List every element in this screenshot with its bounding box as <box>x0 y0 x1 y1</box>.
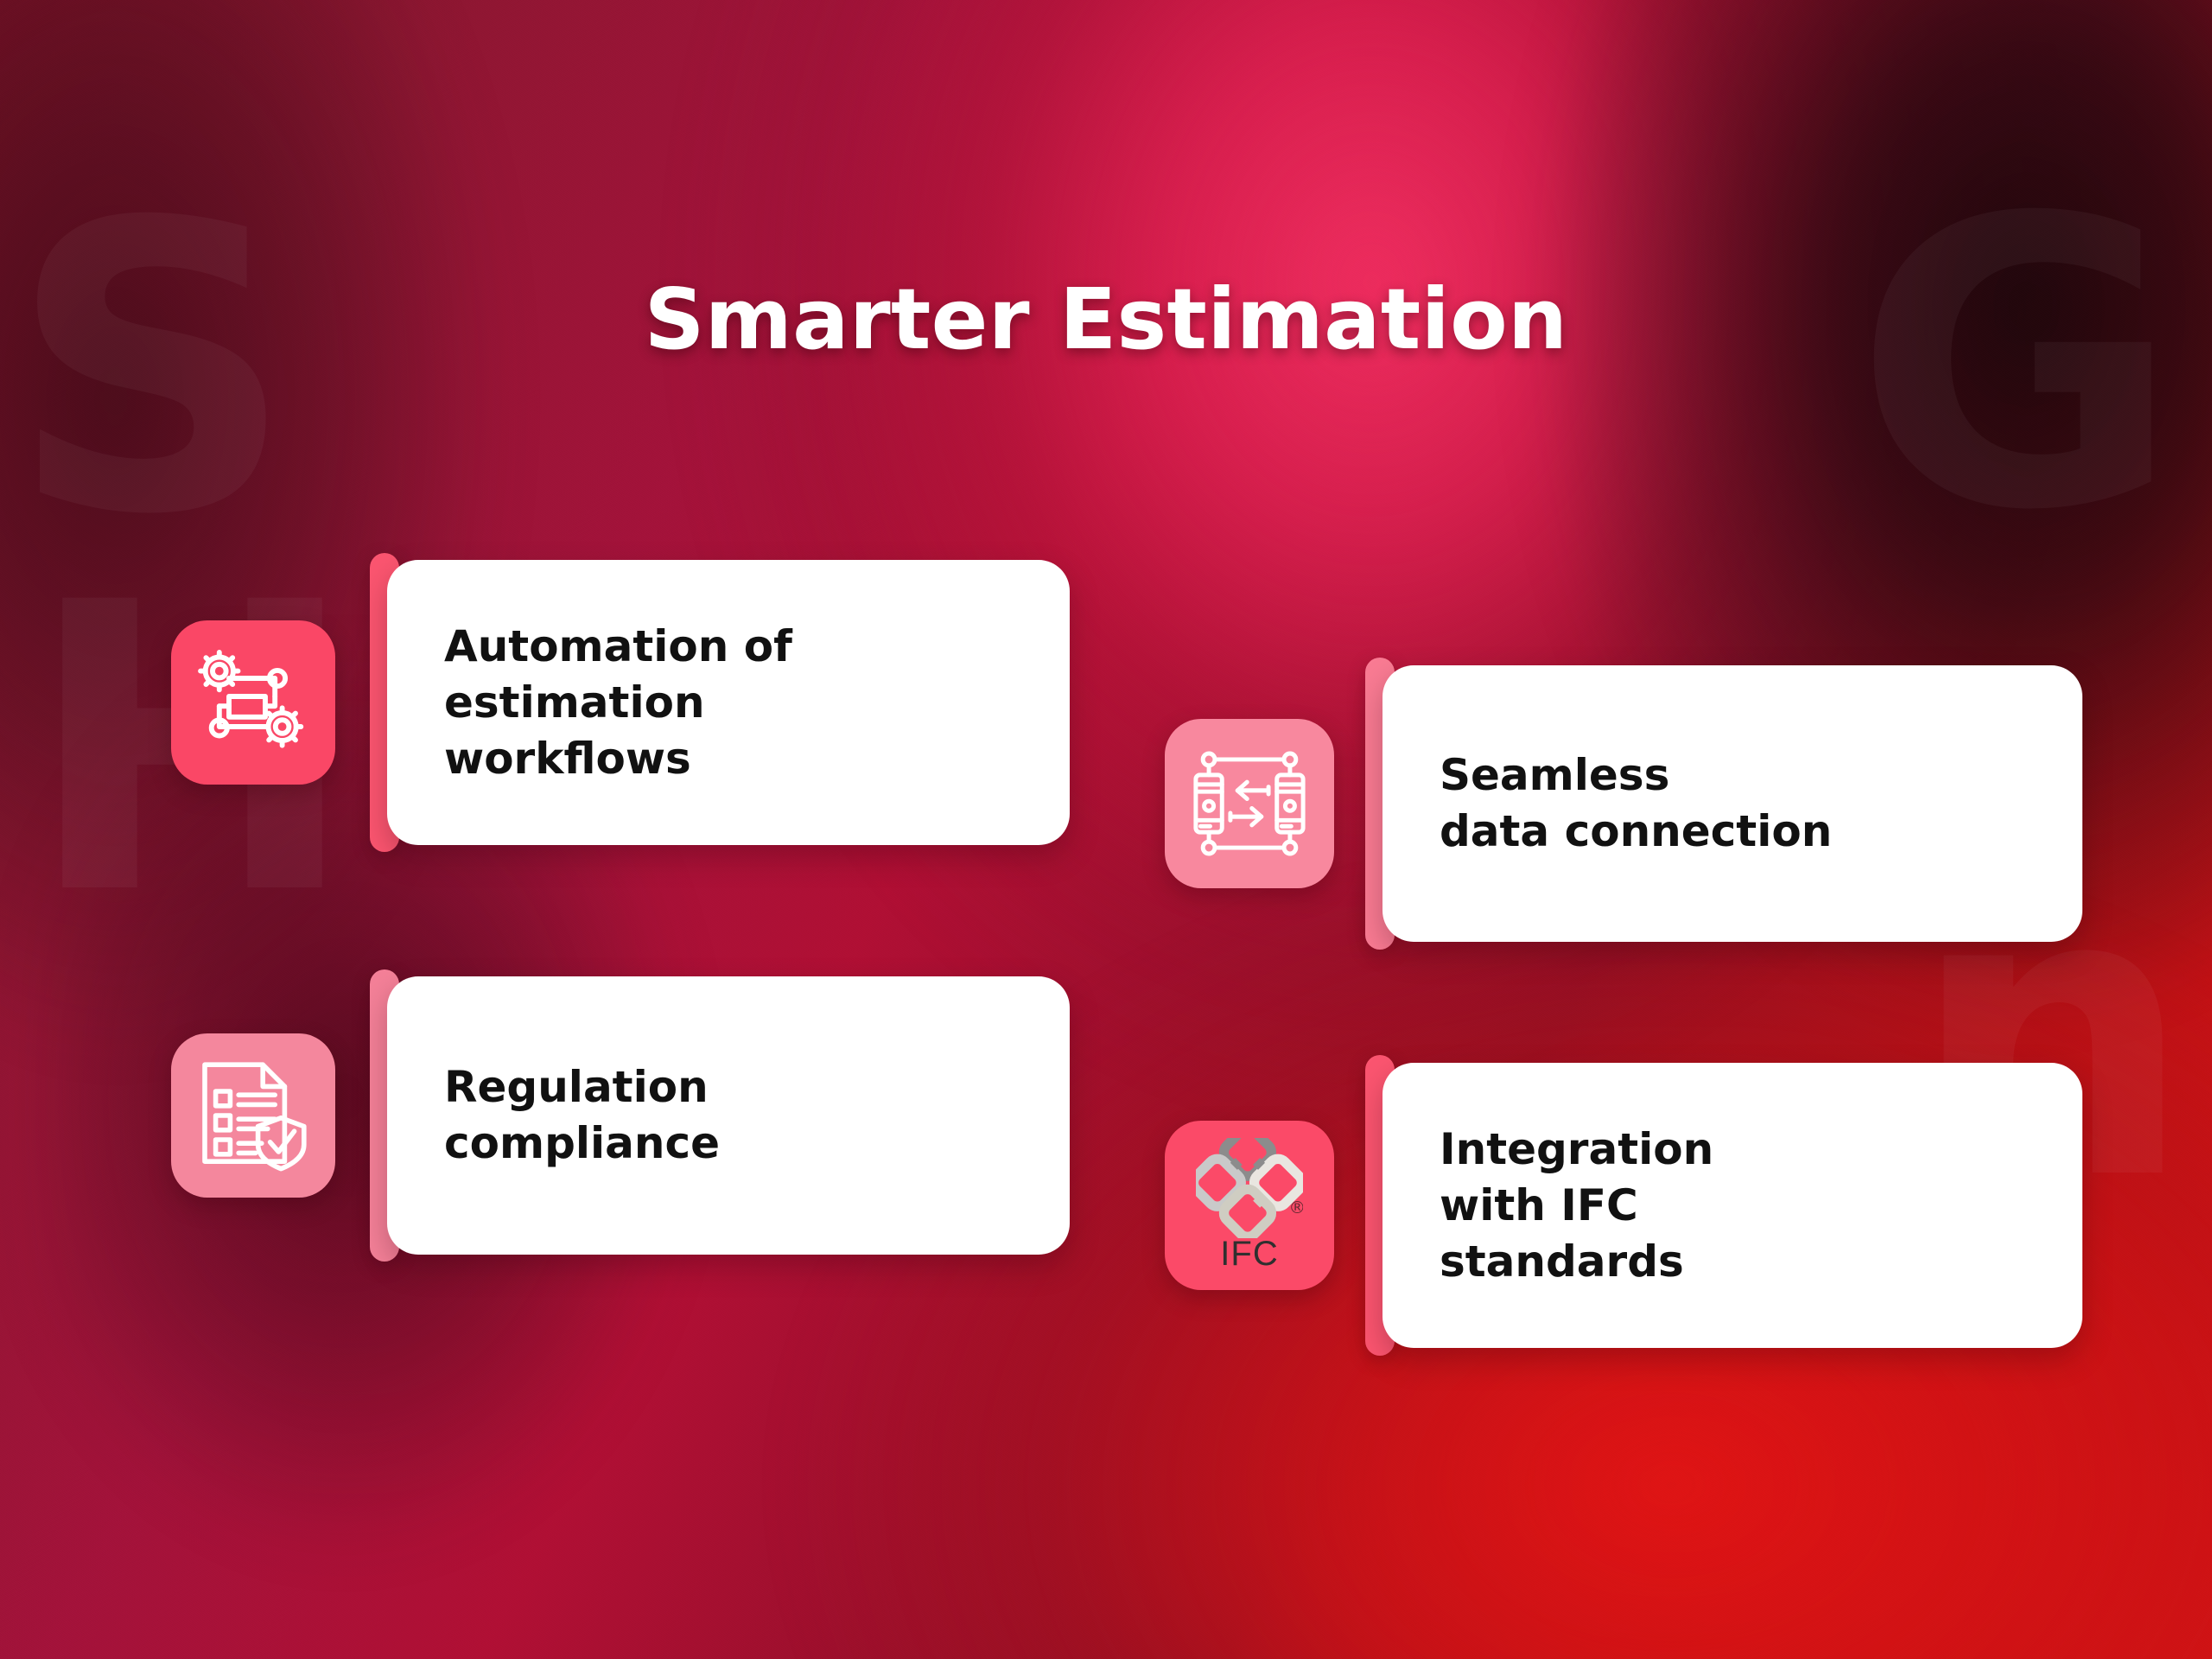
card-panel-regulation: Regulation compliance <box>387 976 1070 1255</box>
ifc-logo-label: IFC <box>1220 1235 1278 1274</box>
card-panel-data-connection: Seamless data connection <box>1382 665 2082 942</box>
slide-canvas: S H G n Smarter Estimation <box>0 0 2212 1659</box>
workflow-gears-icon-tile <box>171 620 335 785</box>
data-exchange-icon <box>1190 744 1309 863</box>
ifc-logo-group: ® IFC <box>1196 1138 1303 1274</box>
card-body-automation: Automation of estimation workflows <box>370 560 1070 845</box>
document-shield-check-icon-tile <box>171 1033 335 1198</box>
card-body-data-connection: Seamless data connection <box>1365 665 2082 942</box>
feature-card-regulation[interactable]: Regulation compliance <box>171 976 1070 1255</box>
card-label-automation: Automation of estimation workflows <box>387 619 834 787</box>
feature-card-data-connection[interactable]: Seamless data connection <box>1165 665 2082 942</box>
card-label-ifc: Integration with IFC standards <box>1382 1122 1755 1290</box>
card-body-regulation: Regulation compliance <box>370 976 1070 1255</box>
ifc-logo-icon-tile: ® IFC <box>1165 1121 1334 1290</box>
card-panel-ifc: Integration with IFC standards <box>1382 1063 2082 1348</box>
feature-card-ifc[interactable]: ® IFC Integration with IFC standards <box>1165 1063 2082 1348</box>
document-shield-check-icon <box>193 1055 314 1176</box>
card-label-regulation: Regulation compliance <box>387 1059 761 1172</box>
card-body-ifc: Integration with IFC standards <box>1365 1063 2082 1348</box>
card-label-data-connection: Seamless data connection <box>1382 747 1873 860</box>
workflow-gears-icon <box>193 642 314 763</box>
page-title: Smarter Estimation <box>0 270 2212 368</box>
card-panel-automation: Automation of estimation workflows <box>387 560 1070 845</box>
feature-card-automation[interactable]: Automation of estimation workflows <box>171 560 1070 845</box>
svg-text:®: ® <box>1288 1197 1303 1217</box>
data-exchange-icon-tile <box>1165 719 1334 888</box>
ifc-logo-icon: ® <box>1196 1138 1303 1238</box>
